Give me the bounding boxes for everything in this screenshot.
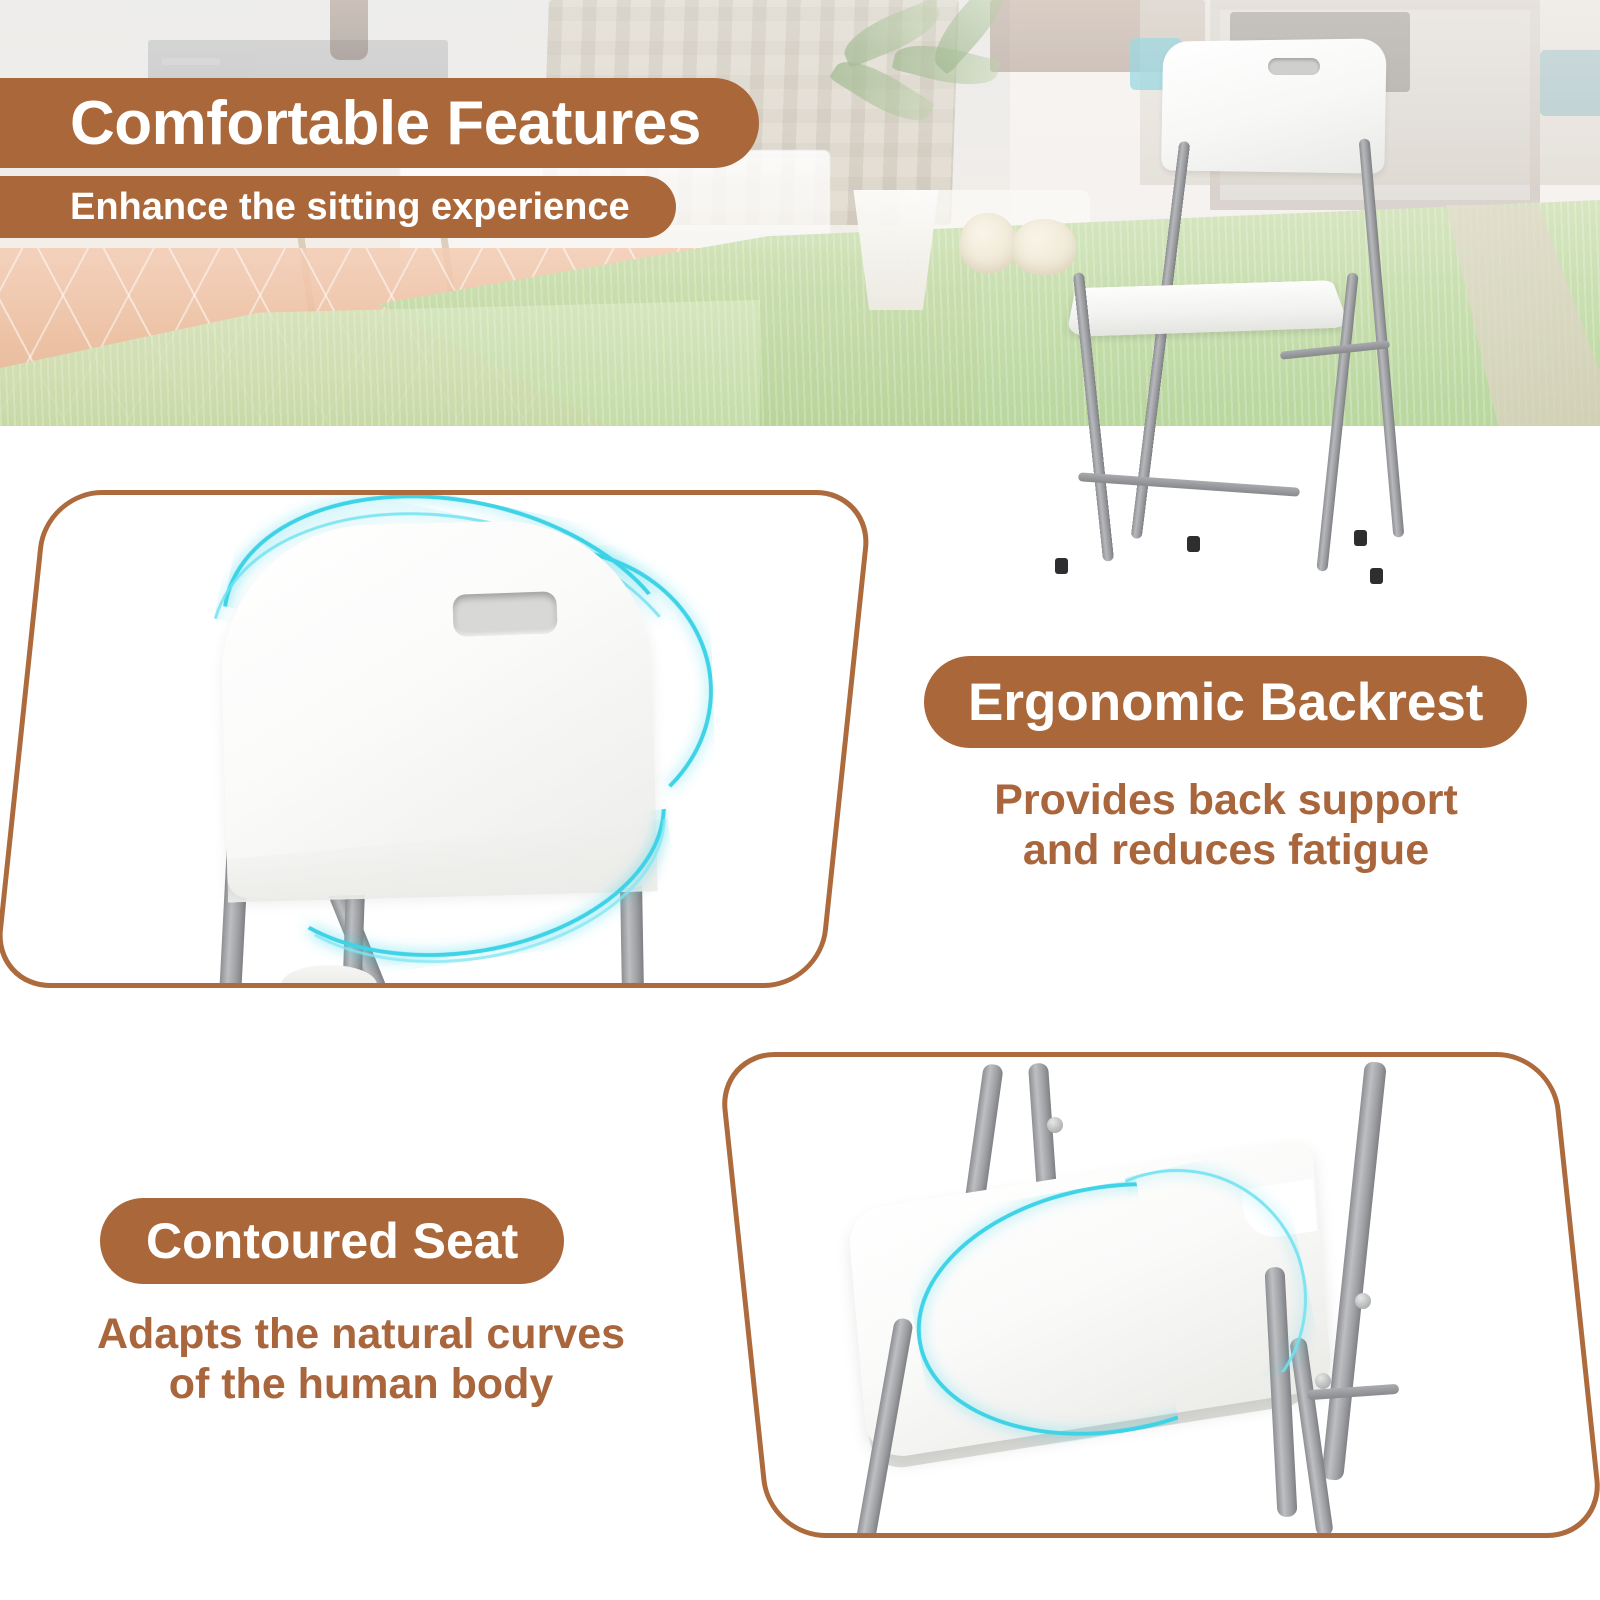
seat-detail-image (747, 1057, 1575, 1533)
seat-desc-line-2: of the human body (36, 1360, 686, 1410)
hero-chair-crossbrace (1078, 472, 1300, 496)
seat-rivet (1355, 1293, 1371, 1309)
feature-pill-ergonomic-backrest: Ergonomic Backrest (924, 656, 1527, 748)
backrest-artwork (23, 495, 843, 983)
seat-artwork (747, 1057, 1575, 1533)
seat-rivet (1315, 1373, 1331, 1389)
header-title-banner: Comfortable Features (0, 78, 759, 168)
hero-chair-seat (1066, 280, 1350, 337)
seat-desc-line-1: Adapts the natural curves (36, 1310, 686, 1360)
backrest-handle-cutout (452, 591, 557, 637)
hero-chair-leg (1359, 138, 1405, 537)
feature-description-seat: Adapts the natural curves of the human b… (36, 1310, 686, 1410)
feature-description-backrest: Provides back support and reduces fatigu… (926, 776, 1526, 876)
seat-chair-leg (1321, 1061, 1387, 1481)
hero-chair-foot-cap (1370, 568, 1383, 584)
hero-chair-foot-cap (1055, 558, 1068, 574)
backrest-desc-line-2: and reduces fatigue (926, 826, 1526, 876)
hero-chair-illustration (980, 10, 1600, 650)
hero-chair-foot-cap (1187, 536, 1200, 552)
seat-detail-frame (716, 1052, 1600, 1538)
backrest-detail-image (23, 495, 843, 983)
hero-chair-crossbrace (1280, 340, 1390, 359)
backrest-detail-frame (0, 490, 874, 988)
hero-chair-foot-cap (1354, 530, 1367, 546)
header-subtitle-banner: Enhance the sitting experience (0, 176, 676, 238)
infographic-canvas: Comfortable Features Enhance the sitting… (0, 0, 1600, 1600)
hero-chair-handle-cutout (1268, 58, 1320, 75)
backrest-desc-line-1: Provides back support (926, 776, 1526, 826)
seat-rivet (1047, 1117, 1063, 1133)
feature-pill-contoured-seat: Contoured Seat (100, 1198, 564, 1284)
